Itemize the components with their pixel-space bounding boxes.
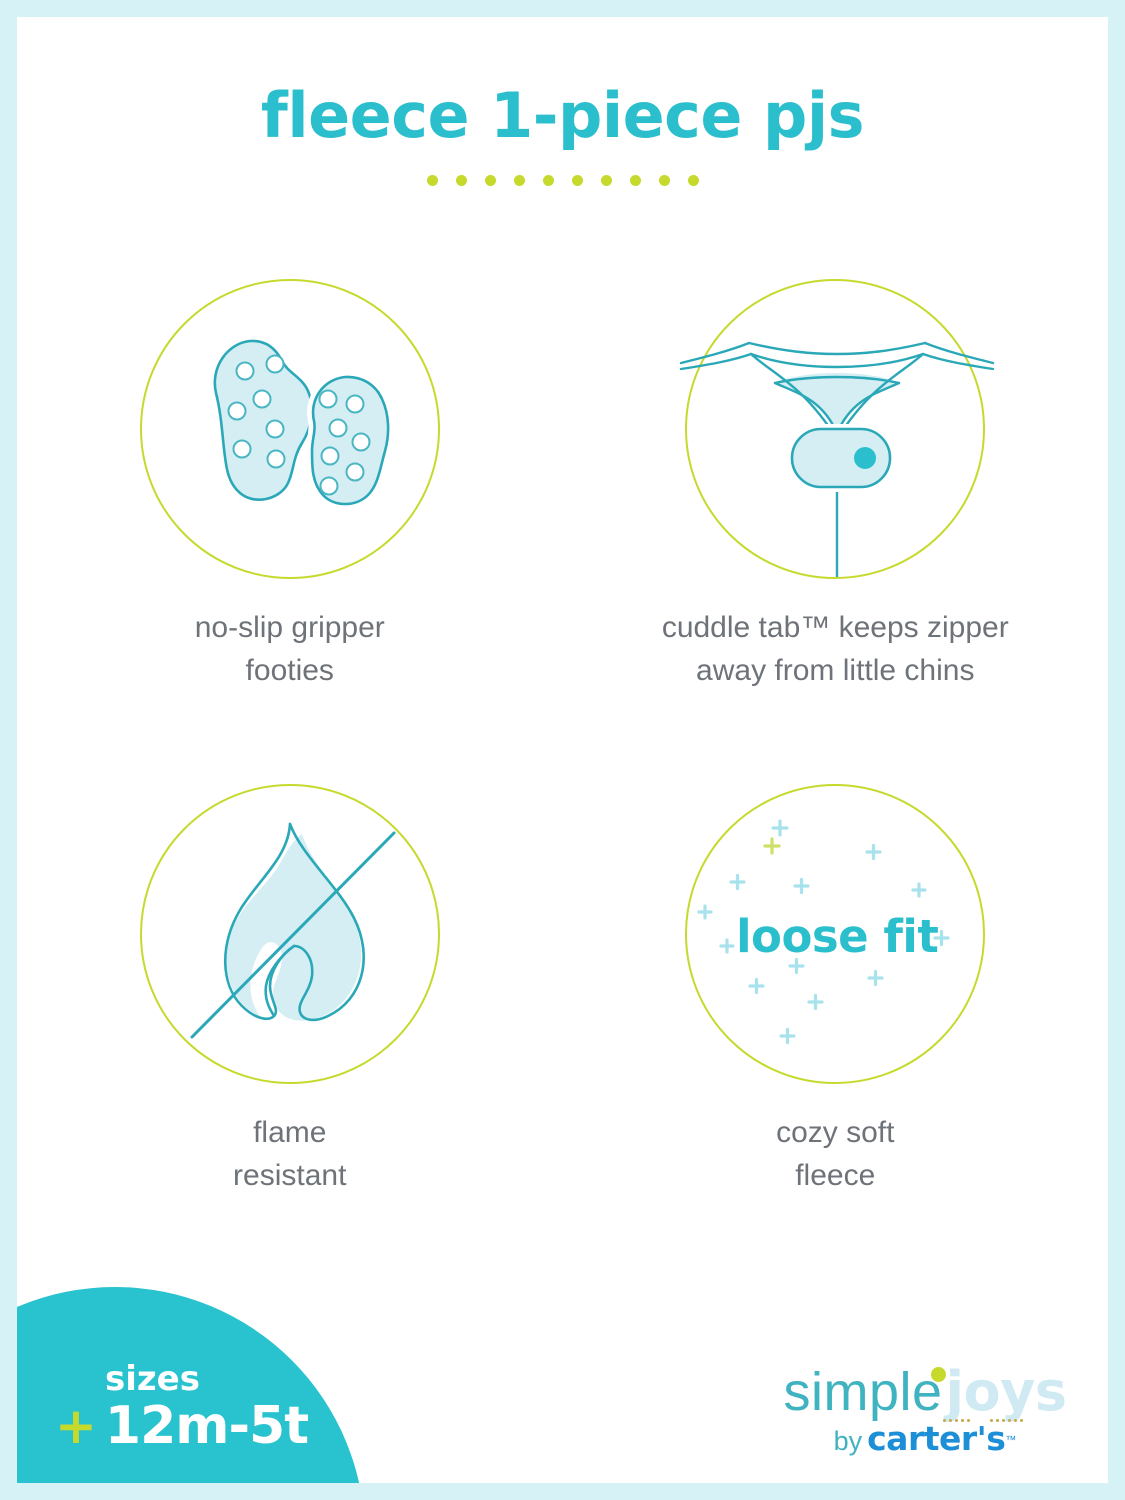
feature-caption: cuddle tab™ keeps zipper away from littl… bbox=[662, 607, 1009, 692]
flame-resistant-icon bbox=[140, 784, 440, 1084]
logo-dot bbox=[961, 1419, 964, 1422]
poster-canvas: fleece 1-piece pjs bbox=[17, 17, 1108, 1483]
logo-dot-gap bbox=[973, 1419, 987, 1422]
feature-caption: no-slip gripper footies bbox=[195, 607, 385, 692]
zipper-pull-dot bbox=[854, 447, 876, 469]
title-block: fleece 1-piece pjs bbox=[17, 85, 1108, 186]
logo-dot bbox=[1020, 1419, 1023, 1422]
logo-dot bbox=[1008, 1419, 1011, 1422]
sizes-badge: sizes + 12m-5t bbox=[17, 1362, 337, 1452]
divider-dot bbox=[543, 175, 554, 186]
logo-carters-text: carter's bbox=[867, 1419, 1005, 1458]
logo-dot bbox=[996, 1419, 999, 1422]
sizes-range: 12m-5t bbox=[105, 1400, 308, 1452]
logo-underline-dots bbox=[943, 1419, 1023, 1422]
divider-dot bbox=[427, 175, 438, 186]
logo-byline: bycarter's™ bbox=[780, 1422, 1070, 1455]
logo-dot bbox=[1002, 1419, 1005, 1422]
divider-dots bbox=[17, 175, 1108, 186]
feature-caption: cozy soft fleece bbox=[776, 1112, 894, 1197]
logo-dot bbox=[1014, 1419, 1017, 1422]
logo-dot bbox=[955, 1419, 958, 1422]
logo-simple-text: simple bbox=[784, 1362, 943, 1422]
sizes-range-row: + 12m-5t bbox=[17, 1400, 337, 1452]
logo-tm-mark: ™ bbox=[1005, 1435, 1016, 1447]
divider-dot bbox=[601, 175, 612, 186]
caption-line-2: away from little chins bbox=[696, 654, 974, 687]
divider-dot bbox=[630, 175, 641, 186]
divider-dot bbox=[572, 175, 583, 186]
sizes-label: sizes bbox=[105, 1362, 337, 1398]
feature-no-slip-gripper-footies: no-slip gripper footies bbox=[17, 279, 563, 692]
feature-grid: no-slip gripper footies bbox=[17, 279, 1108, 1197]
logo-joys-text: joys bbox=[946, 1360, 1067, 1423]
feature-cuddle-tab: cuddle tab™ keeps zipper away from littl… bbox=[563, 279, 1109, 692]
divider-dot bbox=[688, 175, 699, 186]
loose-fit-icon: loose fit bbox=[685, 784, 985, 1084]
caption-line-1: no-slip gripper bbox=[195, 611, 385, 644]
plus-icon: + bbox=[55, 1401, 97, 1451]
caption-line-1: cuddle tab™ keeps zipper bbox=[662, 611, 1009, 644]
logo-dot bbox=[943, 1419, 946, 1422]
divider-dot bbox=[456, 175, 467, 186]
brand-logo: simplejoys bycarter bbox=[780, 1365, 1070, 1455]
caption-line-1: cozy soft bbox=[776, 1116, 894, 1149]
page-title: fleece 1-piece pjs bbox=[17, 85, 1108, 147]
divider-dot bbox=[659, 175, 670, 186]
caption-line-2: footies bbox=[246, 654, 334, 687]
caption-line-2: fleece bbox=[795, 1159, 875, 1192]
caption-line-2: resistant bbox=[233, 1159, 346, 1192]
caption-line-1: flame bbox=[253, 1116, 326, 1149]
poster-frame: fleece 1-piece pjs bbox=[0, 0, 1125, 1500]
divider-dot bbox=[514, 175, 525, 186]
logo-wordmark: simplejoys bbox=[780, 1365, 1070, 1419]
logo-j-dot-icon bbox=[931, 1367, 946, 1382]
logo-dot bbox=[949, 1419, 952, 1422]
logo-dot bbox=[990, 1419, 993, 1422]
logo-dot bbox=[967, 1419, 970, 1422]
loose-fit-label: loose fit bbox=[687, 786, 987, 1086]
logo-by-text: by bbox=[834, 1426, 863, 1456]
divider-dot bbox=[485, 175, 496, 186]
cuddle-tab-collar-icon bbox=[685, 279, 985, 579]
feature-flame-resistant: flame resistant bbox=[17, 784, 563, 1197]
gripper-footies-icon bbox=[140, 279, 440, 579]
feature-cozy-soft-fleece: loose fit cozy soft fleece bbox=[563, 784, 1109, 1197]
feature-caption: flame resistant bbox=[233, 1112, 346, 1197]
